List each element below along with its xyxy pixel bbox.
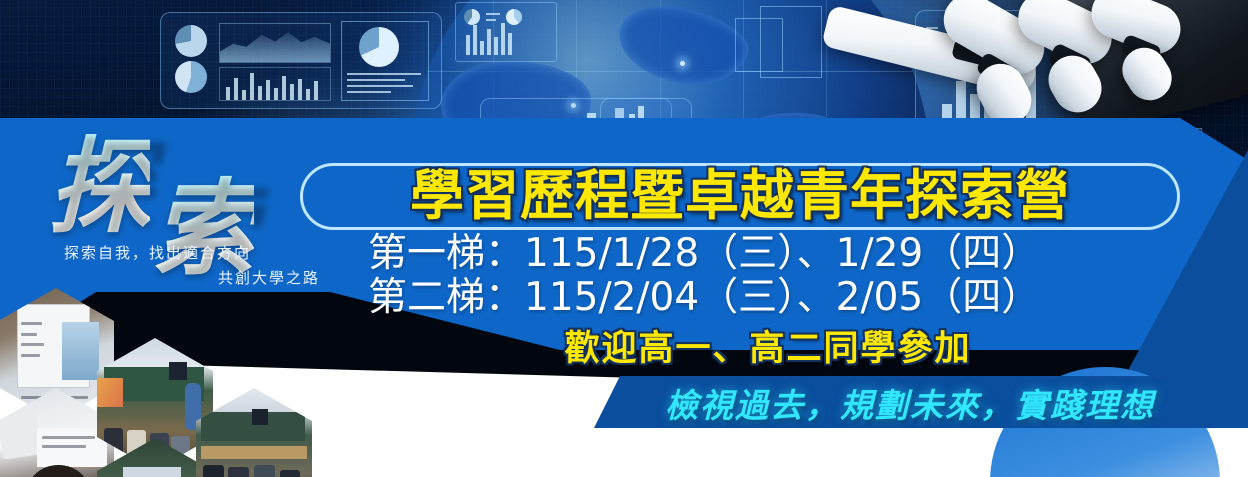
photo-hex-student-notes xyxy=(0,388,114,477)
photo-collage xyxy=(0,288,490,477)
logo-subtitle: 探索自我，找出適合方向 共創大學之路 xyxy=(58,241,320,291)
session-date-1: 第一梯：115/1/28（三）、1/29（四） xyxy=(368,232,1168,276)
photo-hex-lecture-hall xyxy=(196,388,312,477)
event-promo-banner: 探 索 探索自我，找出適合方向 共創大學之路 學習歷程暨卓越青年探索營 第一梯：… xyxy=(0,0,1248,477)
tagline-text: 檢視過去，規劃未來，實踐理想 xyxy=(600,381,1220,425)
analytics-dashboard-icon xyxy=(160,12,442,109)
logo-subtitle-line1: 探索自我，找出適合方向 xyxy=(58,241,320,266)
page-title: 學習歷程暨卓越青年探索營 xyxy=(306,162,1174,230)
logo-char-tan: 探 xyxy=(48,102,150,253)
explore-logo: 探 索 xyxy=(40,108,340,238)
mini-dashboard-icon xyxy=(455,2,557,62)
hud-bracket-icon xyxy=(735,18,783,72)
